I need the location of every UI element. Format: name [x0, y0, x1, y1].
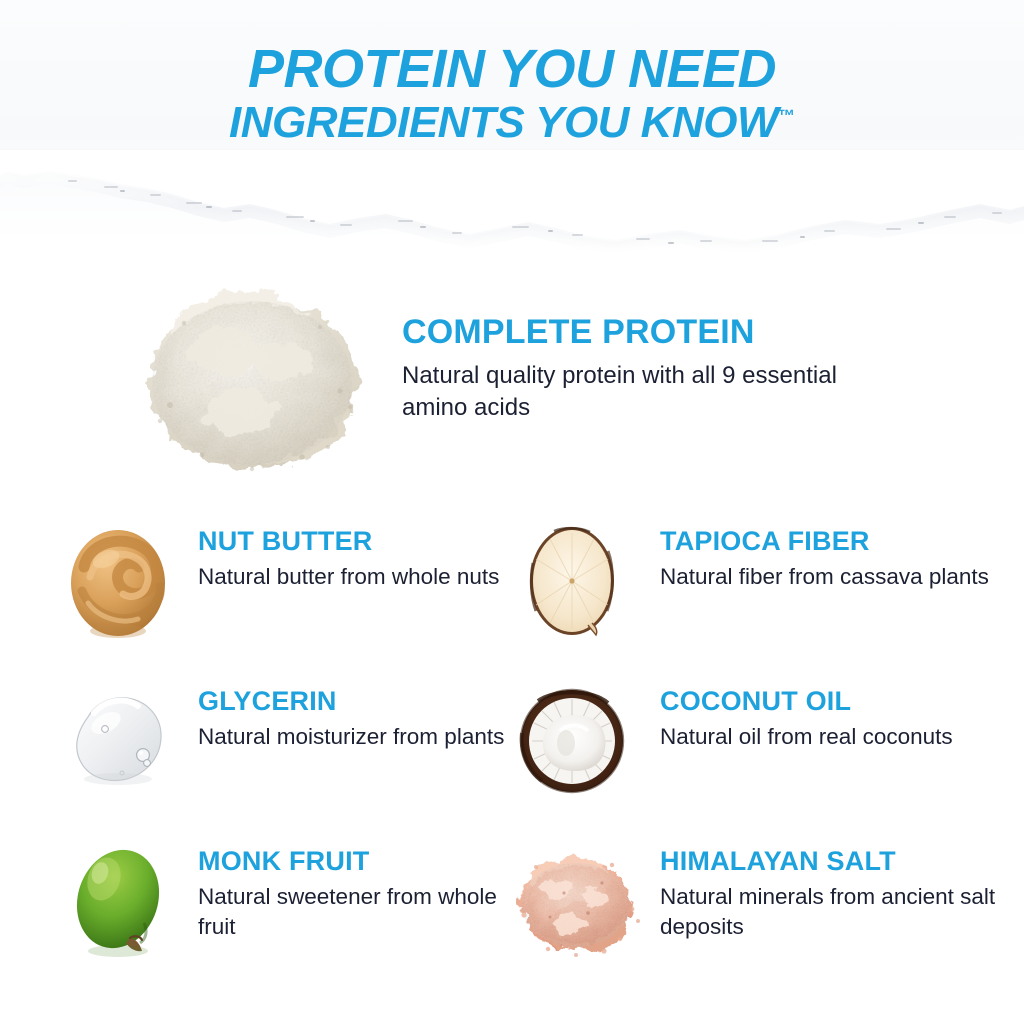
ingredient-row: NUT BUTTER Natural butter from whole nut… — [0, 505, 1024, 665]
ingredient-grid: NUT BUTTER Natural butter from whole nut… — [0, 505, 1024, 985]
ingredient-row: GLYCERIN Natural moisturizer from plants — [0, 665, 1024, 825]
himalayan-salt-pile-image — [508, 839, 638, 964]
ingredient-text-block: COCONUT OIL Natural oil from real coconu… — [660, 687, 1000, 752]
ingredient-text-block: HIMALAYAN SALT Natural minerals from anc… — [660, 847, 1000, 942]
glycerin-droplet-image — [54, 679, 184, 804]
ingredient-row: MONK FRUIT Natural sweetener from whole … — [0, 825, 1024, 985]
page-title: PROTEIN YOU NEED INGREDIENTS YOU KNOW™ — [0, 44, 1024, 144]
ingredient-item-tapioca-fiber: TAPIOCA FIBER Natural fiber from cassava… — [508, 505, 998, 665]
ingredient-item-coconut-oil: COCONUT OIL Natural oil from real coconu… — [508, 665, 998, 825]
ingredient-title: MONK FRUIT — [198, 847, 528, 875]
headline-line-2-text: INGREDIENTS YOU KNOW — [229, 98, 778, 147]
ingredients-panel: COMPLETE PROTEIN Natural quality protein… — [0, 255, 1024, 985]
ingredient-item-himalayan-salt: HIMALAYAN SALT Natural minerals from anc… — [508, 825, 998, 985]
ingredient-text-block: MONK FRUIT Natural sweetener from whole … — [198, 847, 528, 942]
hero-description: Natural quality protein with all 9 essen… — [402, 360, 872, 424]
nut-butter-swirl-image — [54, 519, 184, 644]
ingredient-title: GLYCERIN — [198, 687, 528, 715]
hero-ingredient-item: COMPLETE PROTEIN Natural quality protein… — [0, 255, 1024, 505]
monk-fruit-image — [54, 839, 184, 964]
hero-title: COMPLETE PROTEIN — [402, 315, 872, 351]
ingredient-item-monk-fruit: MONK FRUIT Natural sweetener from whole … — [46, 825, 516, 985]
ingredient-description: Natural fiber from cassava plants — [660, 562, 1000, 592]
ingredient-text-block: TAPIOCA FIBER Natural fiber from cassava… — [660, 527, 1000, 592]
ingredient-item-glycerin: GLYCERIN Natural moisturizer from plants — [46, 665, 516, 825]
trademark-symbol: ™ — [778, 106, 795, 125]
headline-line-1: PROTEIN YOU NEED — [0, 44, 1024, 96]
ingredient-description: Natural moisturizer from plants — [198, 722, 528, 752]
ingredient-description: Natural oil from real coconuts — [660, 722, 1000, 752]
ingredient-description: Natural sweetener from whole fruit — [198, 882, 528, 942]
ingredient-title: NUT BUTTER — [198, 527, 528, 555]
ingredient-description: Natural minerals from ancient salt depos… — [660, 882, 1000, 942]
protein-powder-pile-image — [132, 265, 372, 480]
halved-coconut-image — [508, 679, 638, 804]
ingredient-text-block: NUT BUTTER Natural butter from whole nut… — [198, 527, 528, 592]
cassava-root-slice-image — [508, 519, 638, 644]
ingredient-title: TAPIOCA FIBER — [660, 527, 1000, 555]
headline-line-2: INGREDIENTS YOU KNOW™ — [0, 102, 1024, 144]
ingredient-item-nut-butter: NUT BUTTER Natural butter from whole nut… — [46, 505, 516, 665]
ingredient-text-block: GLYCERIN Natural moisturizer from plants — [198, 687, 528, 752]
ingredient-title: HIMALAYAN SALT — [660, 847, 1000, 875]
ingredient-description: Natural butter from whole nuts — [198, 562, 528, 592]
hero-text-block: COMPLETE PROTEIN Natural quality protein… — [402, 315, 872, 424]
ingredient-title: COCONUT OIL — [660, 687, 1000, 715]
